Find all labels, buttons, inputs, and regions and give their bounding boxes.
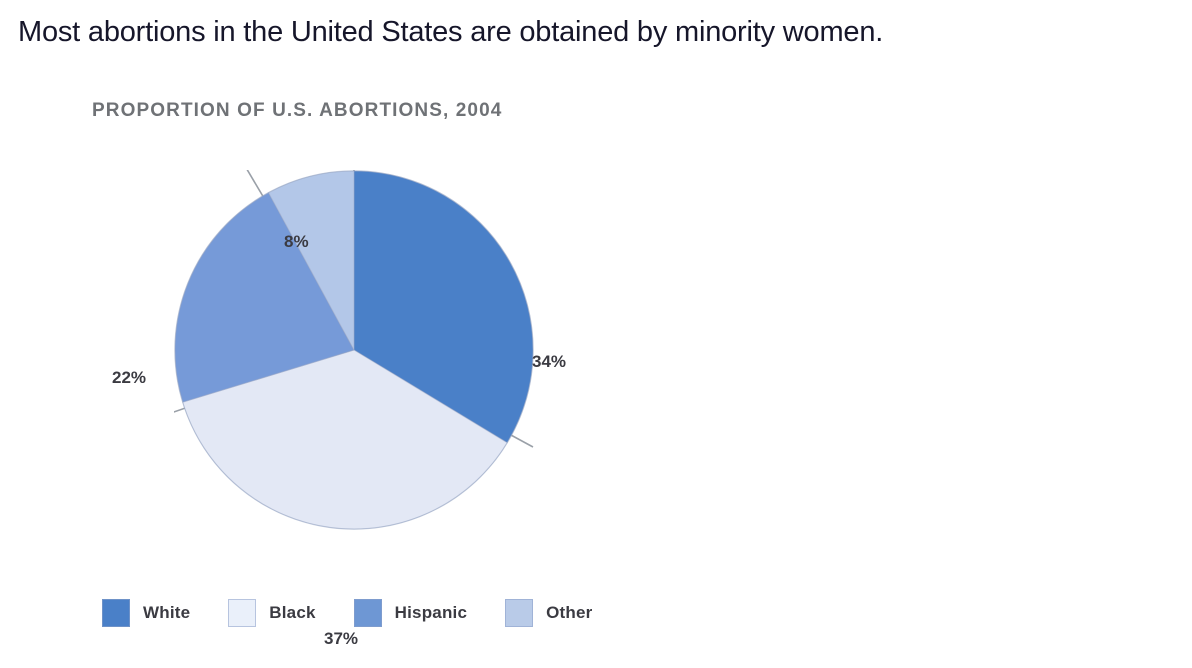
pie-label-other: 8% bbox=[284, 232, 309, 252]
pie-svg bbox=[174, 170, 534, 530]
pie-label-white: 34% bbox=[532, 352, 566, 372]
pie-label-black: 37% bbox=[324, 629, 358, 649]
legend-label-hispanic: Hispanic bbox=[395, 603, 467, 623]
pie-slices bbox=[175, 171, 533, 529]
legend-label-white: White bbox=[143, 603, 190, 623]
legend-swatch-black bbox=[228, 599, 256, 627]
pie-chart-figure: PROPORTION OF U.S. ABORTIONS, 2004 34% 3… bbox=[0, 86, 1192, 646]
pie-chart: 34% 37% 22% 8% bbox=[174, 170, 534, 530]
legend-label-other: Other bbox=[546, 603, 592, 623]
legend-item-hispanic[interactable]: Hispanic bbox=[354, 599, 467, 627]
chart-title: PROPORTION OF U.S. ABORTIONS, 2004 bbox=[92, 100, 502, 122]
legend-label-black: Black bbox=[269, 603, 315, 623]
legend-swatch-hispanic bbox=[354, 599, 382, 627]
legend-swatch-other bbox=[505, 599, 533, 627]
legend-swatch-white bbox=[102, 599, 130, 627]
legend-item-white[interactable]: White bbox=[102, 599, 190, 627]
chart-legend: White Black Hispanic Other bbox=[102, 599, 630, 627]
pie-label-hispanic: 22% bbox=[112, 368, 146, 388]
legend-item-black[interactable]: Black bbox=[228, 599, 315, 627]
legend-item-other[interactable]: Other bbox=[505, 599, 592, 627]
page-headline: Most abortions in the United States are … bbox=[18, 14, 883, 50]
